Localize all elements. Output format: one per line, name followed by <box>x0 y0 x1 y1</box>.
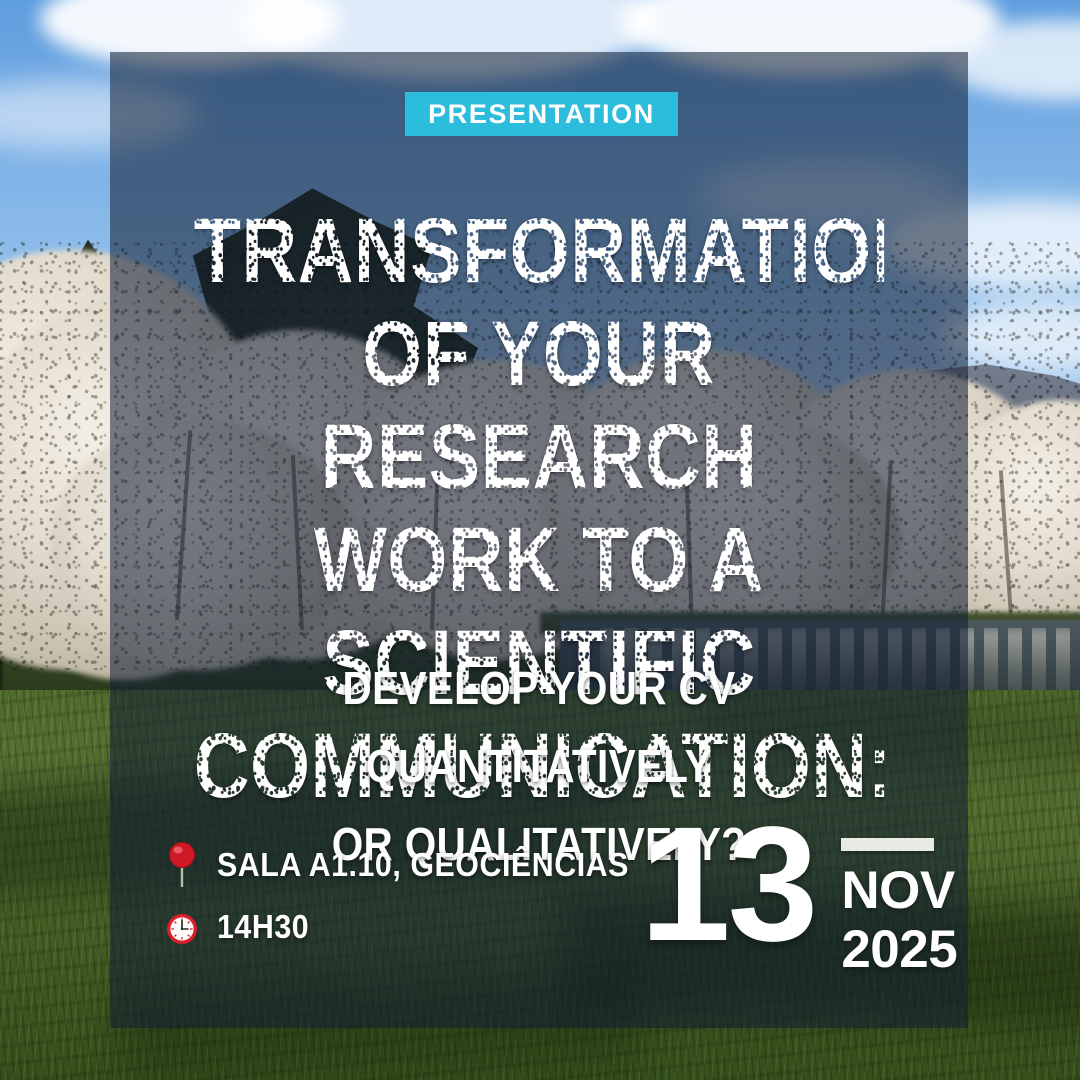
date-divider-rule <box>841 838 934 851</box>
time-row: 14H30 <box>165 904 665 950</box>
date-day: 13 <box>640 814 815 954</box>
subtitle-line: DEVELOP YOUR CV QUANTITATIVELY <box>177 649 900 805</box>
date-year: 2025 <box>841 923 957 976</box>
event-date: 13 NOV 2025 <box>640 814 957 976</box>
poster-content: PRESENTATION TRANSFORMATION OF YOUR RESE… <box>110 52 968 1028</box>
presentation-badge: PRESENTATION <box>405 92 678 136</box>
title-line: RESEARCH WORK TO A <box>194 406 884 612</box>
location-row: SALA A1.10, GEOCIÊNCIAS <box>165 842 665 888</box>
date-month-year: NOV 2025 <box>841 838 957 976</box>
event-details: SALA A1.10, GEOCIÊNCIAS <box>165 842 665 950</box>
event-poster: PRESENTATION TRANSFORMATION OF YOUR RESE… <box>0 0 1080 1080</box>
date-month: NOV <box>841 864 954 917</box>
title-line: TRANSFORMATION OF YOUR <box>194 200 884 406</box>
location-pin-icon <box>165 842 199 888</box>
time-text: 14H30 <box>217 908 309 946</box>
clock-icon <box>165 904 199 950</box>
location-text: SALA A1.10, GEOCIÊNCIAS <box>217 846 629 884</box>
